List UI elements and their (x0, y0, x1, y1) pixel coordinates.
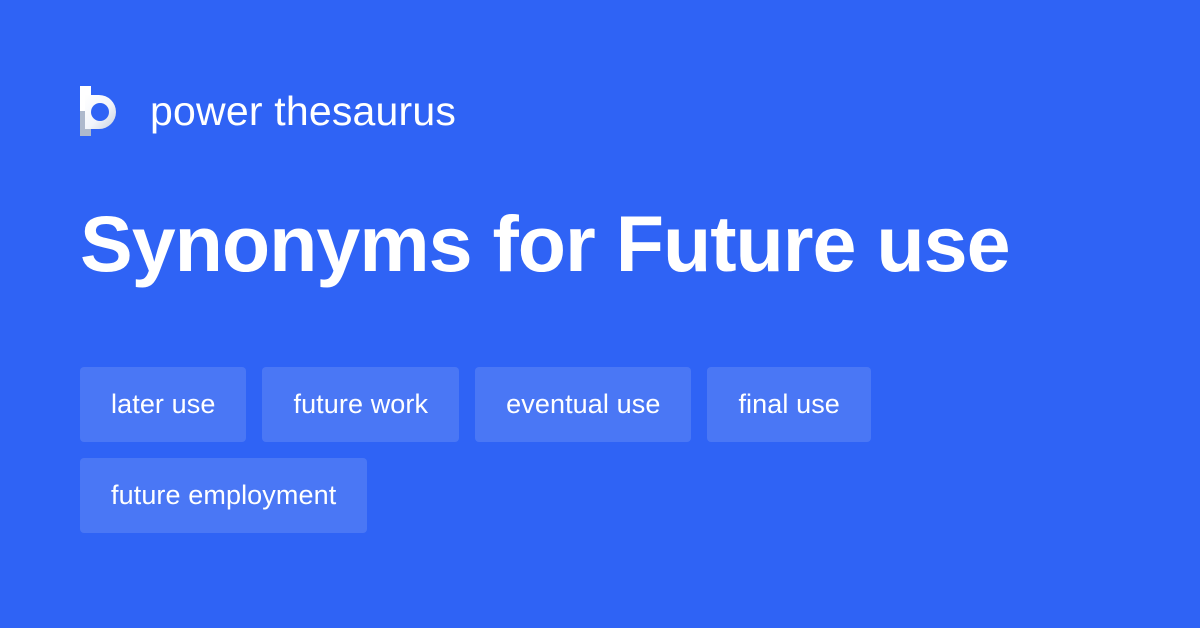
brand-name: power thesaurus (150, 91, 456, 132)
synonym-tag[interactable]: later use (80, 367, 246, 442)
synonym-tag-list: later use future work eventual use final… (80, 367, 1120, 533)
synonym-tag[interactable]: future work (262, 367, 459, 442)
og-card: power thesaurus Synonyms for Future use … (0, 0, 1200, 628)
synonym-tag[interactable]: final use (707, 367, 870, 442)
page-title: Synonyms for Future use (80, 196, 1010, 292)
power-thesaurus-b-logo-icon (80, 86, 124, 136)
synonym-tag[interactable]: eventual use (475, 367, 691, 442)
synonym-tag[interactable]: future employment (80, 458, 367, 533)
brand-header[interactable]: power thesaurus (80, 80, 456, 142)
